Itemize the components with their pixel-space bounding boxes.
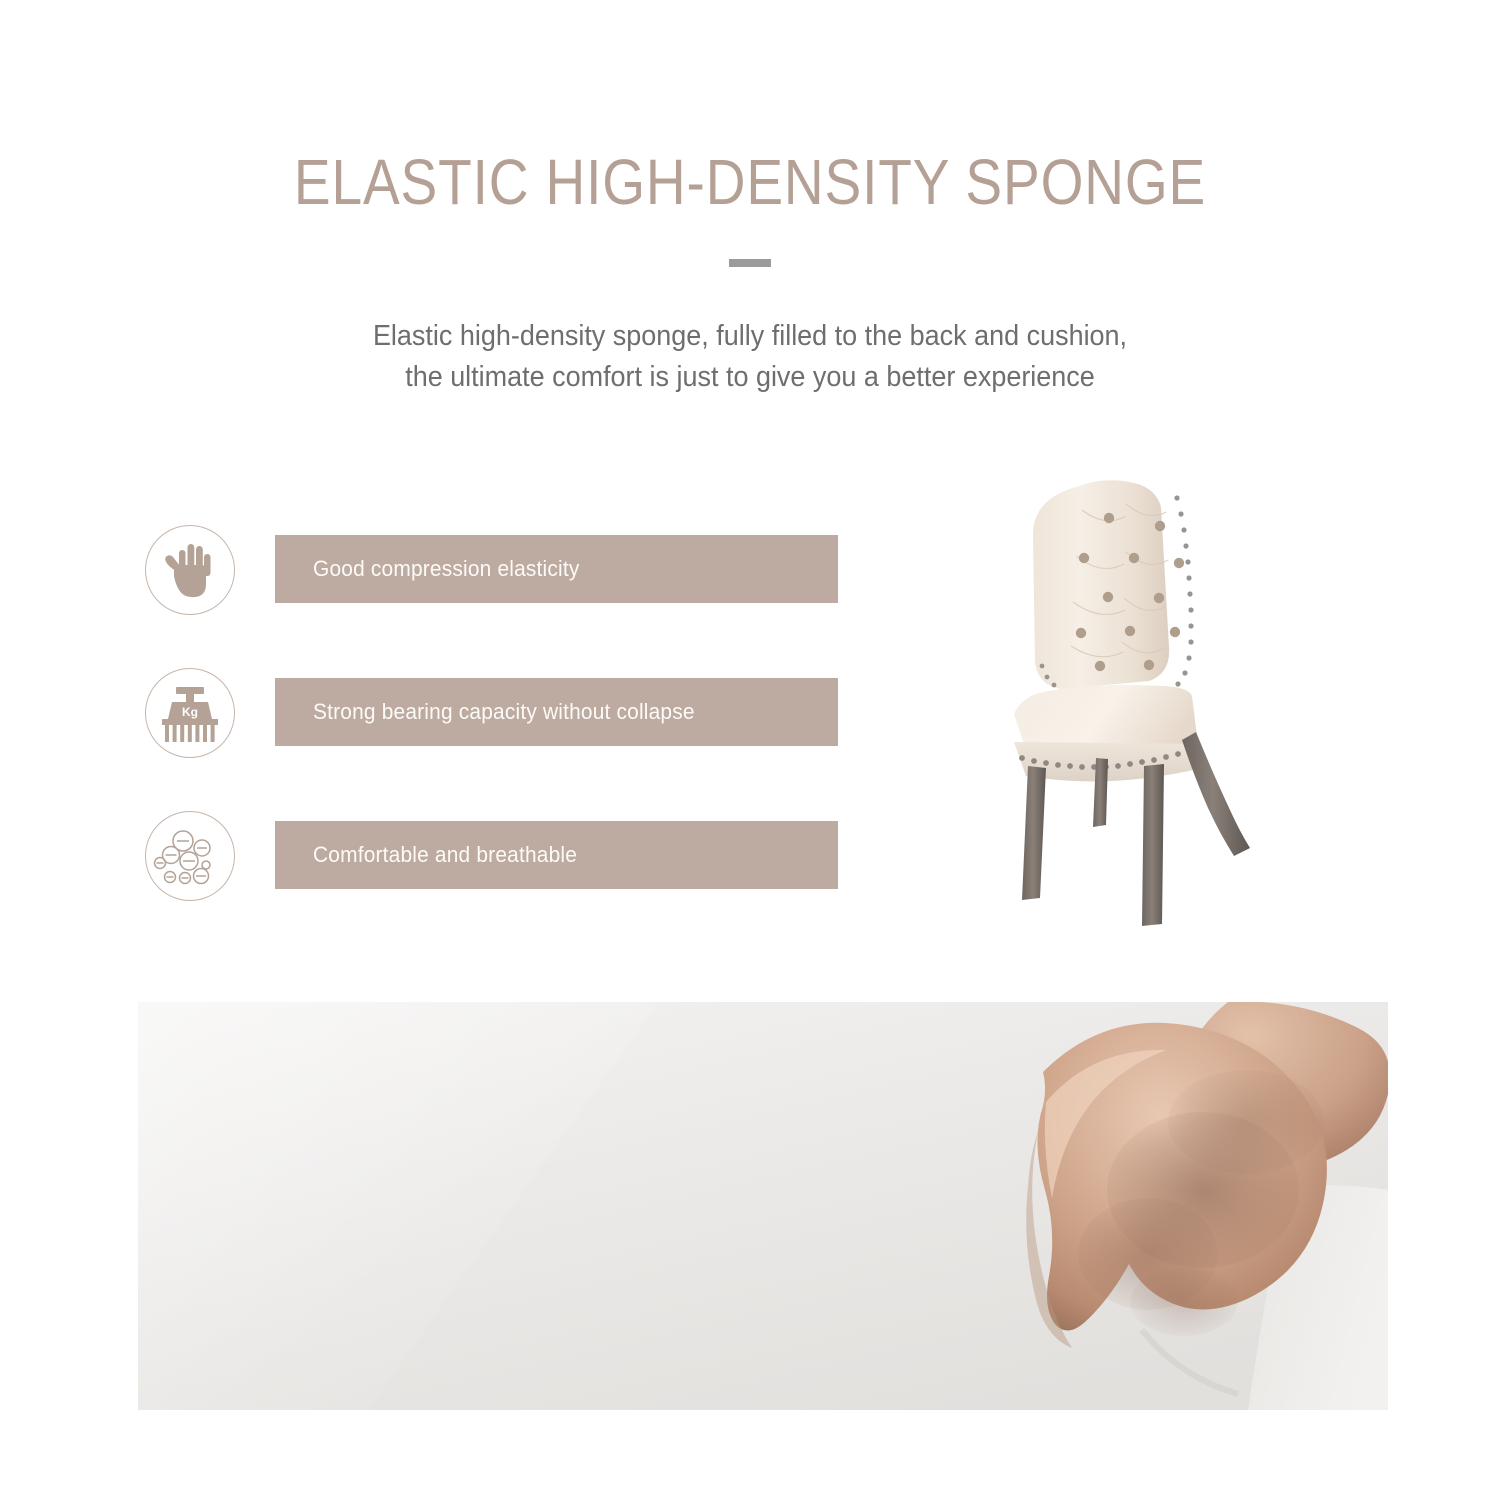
subtitle-line-2: the ultimate comfort is just to give you…	[53, 357, 1448, 398]
feature-row: Comfortable and breathable	[140, 808, 840, 951]
feature-list: Good compression elasticity	[140, 522, 840, 951]
tufted-dining-chair-photo	[930, 470, 1275, 950]
breathable-pores-icon	[145, 811, 235, 901]
feature-bar-compression: Good compression elasticity	[275, 535, 838, 603]
feature-row: Good compression elasticity	[140, 522, 840, 665]
feature-row: Kg Strong bearing capacity without colla…	[140, 665, 840, 808]
hand-icon	[145, 525, 235, 615]
feature-label: Comfortable and breathable	[313, 842, 577, 868]
weight-kg-icon: Kg	[145, 668, 235, 758]
hand-pressing-sponge-photo	[138, 1002, 1388, 1410]
weight-icon-unit-label: Kg	[182, 705, 198, 719]
feature-label: Strong bearing capacity without collapse	[313, 699, 695, 725]
page-subtitle: Elastic high-density sponge, fully fille…	[53, 316, 1448, 398]
feature-bar-breathable: Comfortable and breathable	[275, 821, 838, 889]
feature-label: Good compression elasticity	[313, 556, 580, 582]
feature-bar-bearing: Strong bearing capacity without collapse	[275, 678, 838, 746]
title-divider	[729, 259, 771, 267]
page-title: ELASTIC HIGH-DENSITY SPONGE	[105, 144, 1395, 220]
subtitle-line-1: Elastic high-density sponge, fully fille…	[53, 316, 1448, 357]
